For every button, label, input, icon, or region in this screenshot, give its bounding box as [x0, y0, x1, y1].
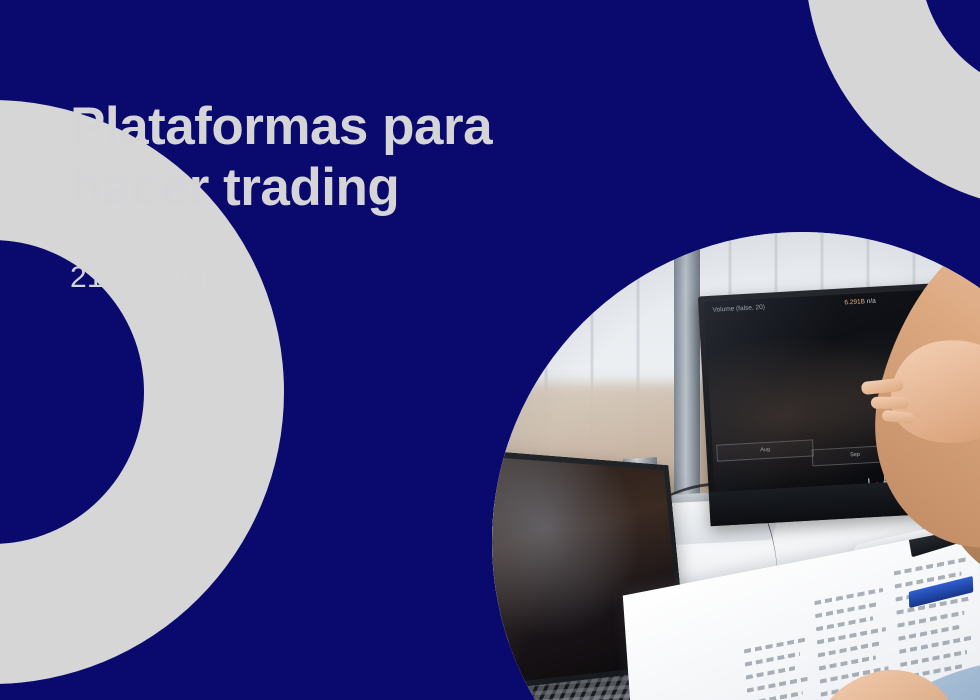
chart-volume-suffix: n/a — [867, 298, 876, 305]
report-row — [816, 616, 873, 631]
trading-desk-photo: Volume (false, 20) 6.291B n/a AugSepOctN… — [492, 232, 980, 700]
report-row — [745, 652, 800, 667]
report-row — [818, 641, 881, 657]
report-row — [748, 691, 803, 700]
poster-canvas: Volume (false, 20) 6.291B n/a AugSepOctN… — [0, 0, 980, 700]
report-row — [747, 677, 808, 693]
report-row — [746, 666, 795, 680]
report-row — [819, 655, 876, 670]
text-block: Plataformas para hacer trading 21 de Jun… — [70, 96, 590, 295]
report-row — [815, 602, 878, 618]
chart-volume-value: 6.291B — [844, 298, 865, 306]
report-row — [744, 638, 805, 654]
gray-ring-arc-top-right — [805, 0, 980, 210]
report-row — [898, 625, 959, 641]
page-title: Plataformas para hacer trading — [70, 96, 590, 219]
event-date: 21 de Junio — [70, 261, 590, 295]
